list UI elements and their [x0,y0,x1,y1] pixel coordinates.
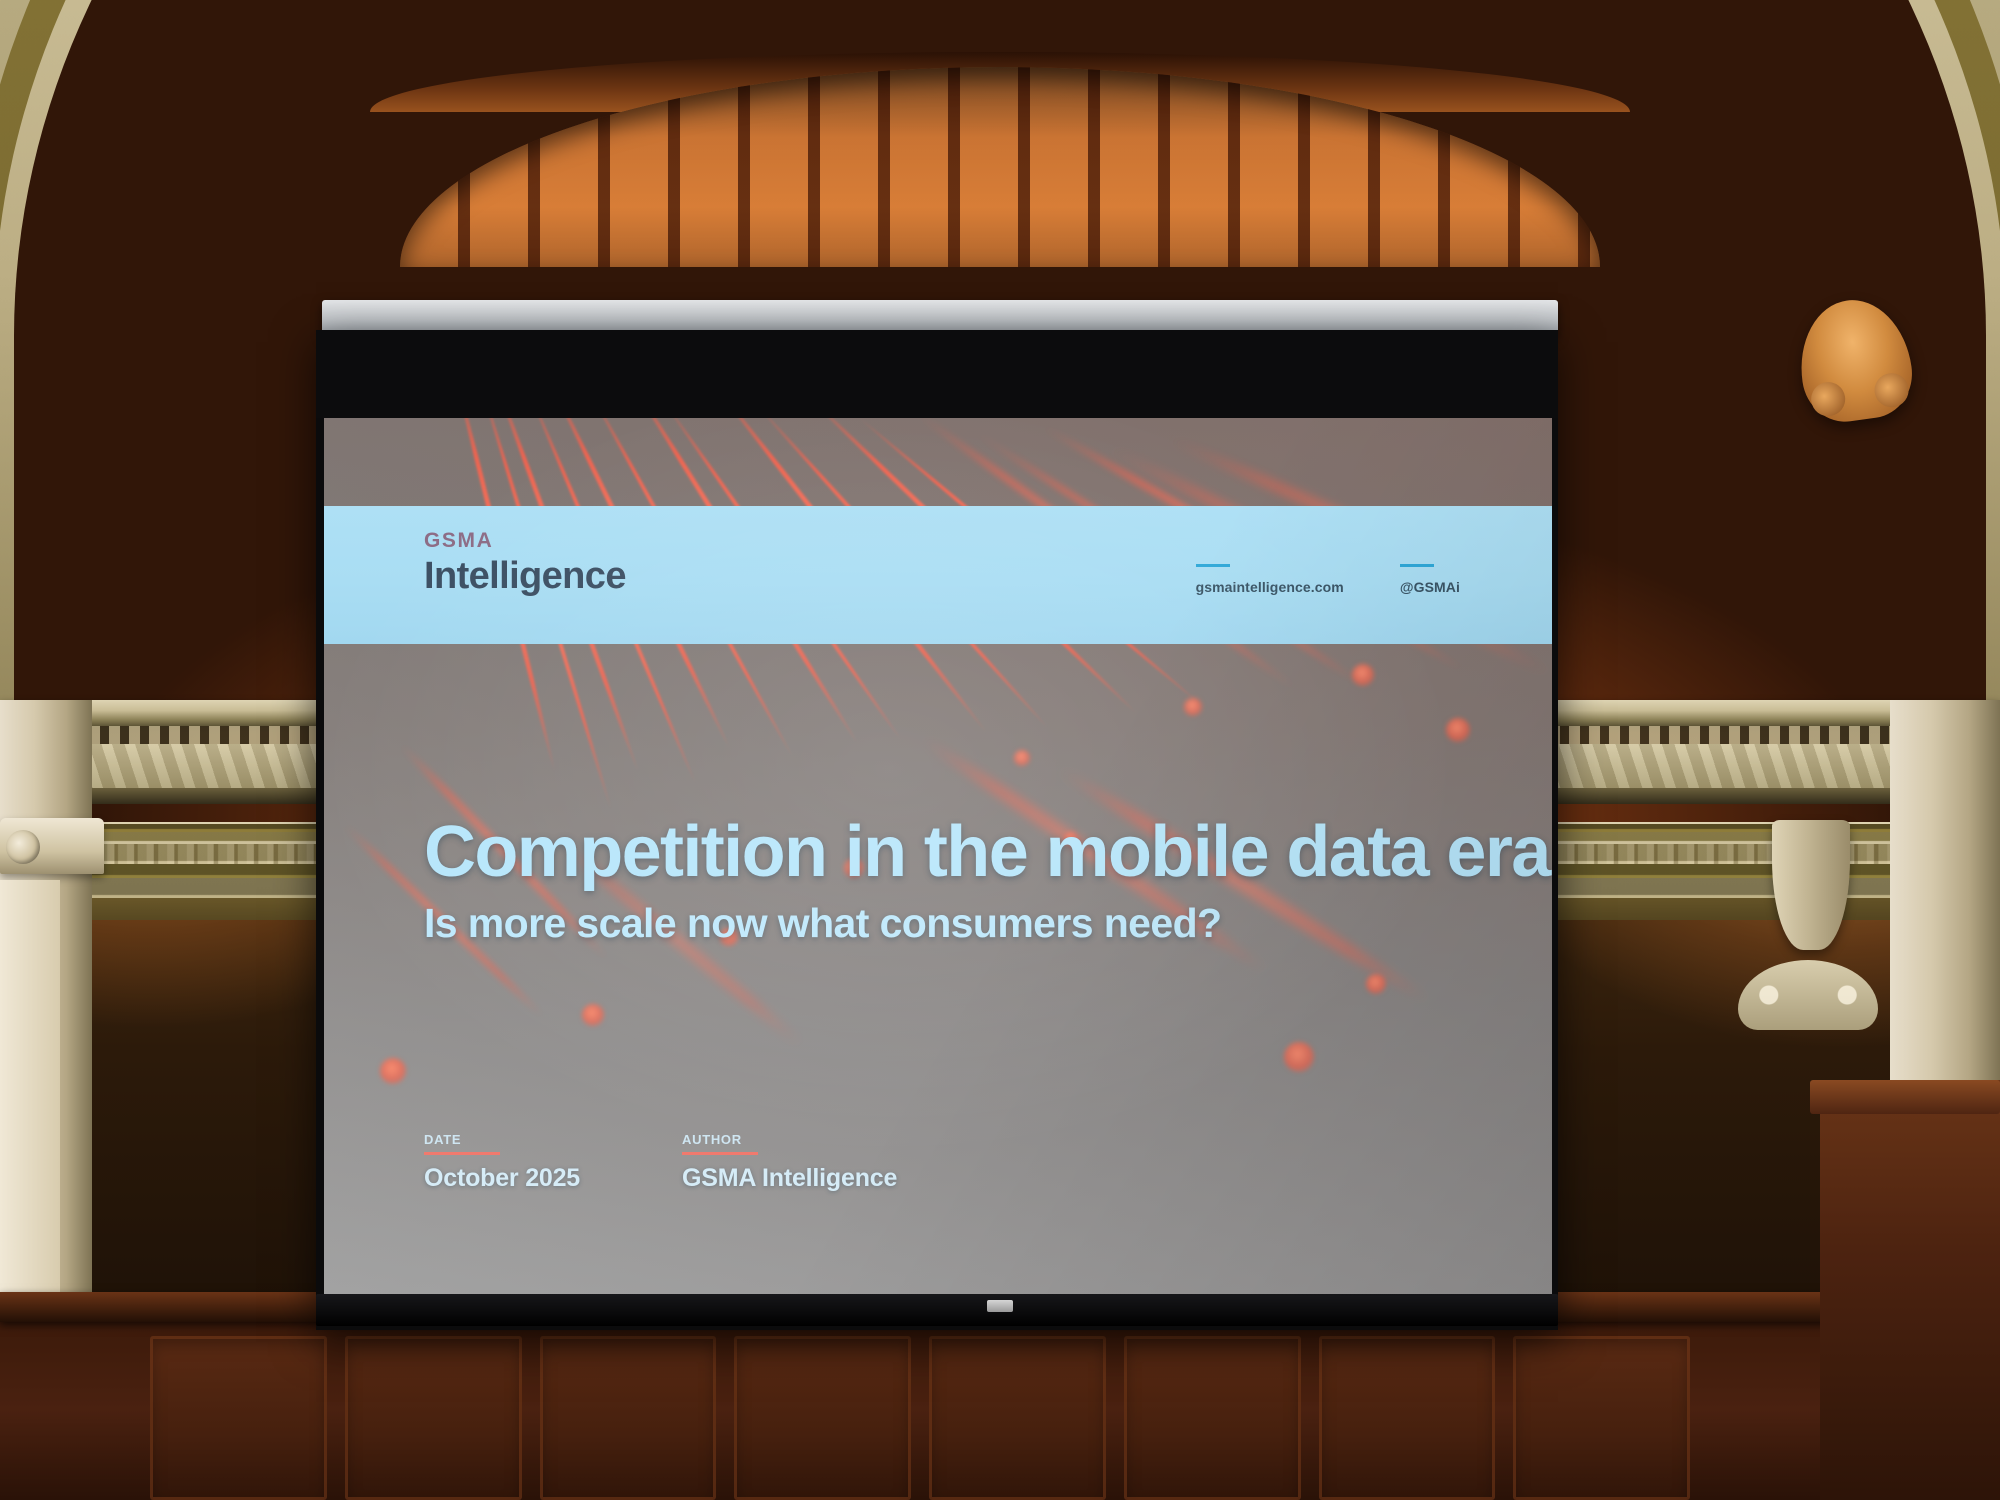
volute-scroll-left [6,830,40,864]
projection-screen-surface: GSMA Intelligence gsmaintelligence.com @… [324,418,1552,1296]
link-rule-icon [1196,564,1230,567]
wainscot-panel [1319,1336,1496,1500]
wood-furniture-right [1820,1080,2000,1500]
slide-subtitle: Is more scale now what consumers need? [424,902,1550,945]
slide-meta-block: DATE October 2025 AUTHOR GSMA Intelligen… [424,1132,897,1193]
header-link-social[interactable]: @GSMAi [1400,564,1460,595]
wainscot-panel [150,1336,327,1500]
screen-weight-bar[interactable] [316,1294,1558,1326]
screenshot-stage: GSMA Intelligence gsmaintelligence.com @… [0,0,2000,1500]
wainscot-panel-row [150,1336,1690,1500]
presentation-slide: GSMA Intelligence gsmaintelligence.com @… [324,418,1552,1296]
wainscot-panel [1513,1336,1690,1500]
wood-furniture-cornice-right [1810,1080,2000,1114]
meta-rule-icon [424,1152,500,1155]
screen-black-masking-band [316,330,1558,418]
header-link-website[interactable]: gsmaintelligence.com [1196,564,1344,595]
social-handle-text: @GSMAi [1400,579,1460,595]
meta-author-value: GSMA Intelligence [682,1164,897,1193]
link-rule-icon [1400,564,1434,567]
slide-title: Competition in the mobile data era [424,818,1550,888]
wainscot-panel [734,1336,911,1500]
slide-header-band: GSMA Intelligence gsmaintelligence.com @… [324,506,1552,644]
meta-rule-icon [682,1152,758,1155]
meta-author-label: AUTHOR [682,1132,897,1147]
meta-date-value: October 2025 [424,1164,580,1193]
gsma-intelligence-logo: GSMA Intelligence [424,530,626,595]
wainscot-panel [540,1336,717,1500]
website-url-text: gsmaintelligence.com [1196,579,1344,595]
logo-brand-text: GSMA [424,530,626,551]
screen-pull-handle[interactable] [987,1300,1013,1312]
doorway-trim-left [0,880,60,1320]
meta-author: AUTHOR GSMA Intelligence [682,1132,897,1193]
header-links-group: gsmaintelligence.com @GSMAi [1196,564,1460,595]
logo-product-text: Intelligence [424,557,626,595]
wainscot-panel [345,1336,522,1500]
wainscot-panel [1124,1336,1301,1500]
wainscot-panel [929,1336,1106,1500]
meta-date: DATE October 2025 [424,1132,580,1193]
meta-date-label: DATE [424,1132,580,1147]
slide-title-block: Competition in the mobile data era Is mo… [424,818,1550,945]
